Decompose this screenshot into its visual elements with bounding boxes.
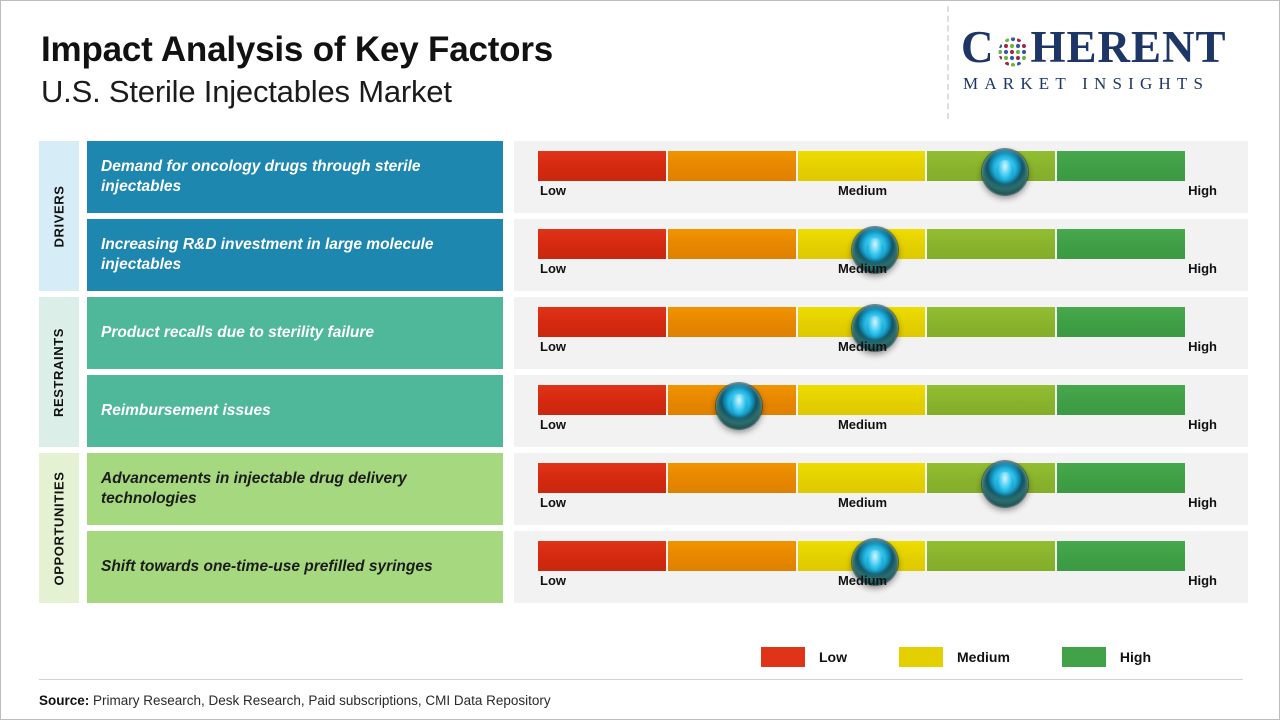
factor-rows: DRIVERS Demand for oncology drugs throug… bbox=[1, 141, 1280, 609]
gauge-segment-low bbox=[538, 463, 666, 493]
source-divider bbox=[39, 679, 1243, 680]
impact-gauge: Low Medium High bbox=[514, 375, 1248, 447]
table-row: Reimbursement issues Low Medium High bbox=[1, 375, 1280, 447]
factor-label: Shift towards one-time-use prefilled syr… bbox=[87, 531, 503, 603]
scale-label-high: High bbox=[1188, 339, 1217, 354]
scale-label-medium: Medium bbox=[838, 573, 887, 588]
source-text: Primary Research, Desk Research, Paid su… bbox=[89, 693, 550, 708]
legend-item-low: Low bbox=[761, 647, 847, 667]
company-logo: C bbox=[961, 21, 1261, 105]
gauge-segment-high bbox=[1057, 541, 1185, 571]
group-drivers: DRIVERS Demand for oncology drugs throug… bbox=[1, 141, 1280, 297]
scale-label-medium: Medium bbox=[838, 417, 887, 432]
impact-gauge: Low Medium High bbox=[514, 219, 1248, 291]
page-title: Impact Analysis of Key Factors bbox=[41, 31, 553, 69]
scale-label-low: Low bbox=[540, 573, 566, 588]
gauge-bar bbox=[538, 229, 1187, 259]
gauge-bar bbox=[538, 541, 1187, 571]
gauge-segment-high bbox=[1057, 151, 1185, 181]
table-row: Shift towards one-time-use prefilled syr… bbox=[1, 531, 1280, 603]
gauge-segment-medium-high bbox=[927, 541, 1055, 571]
gauge-segment-high bbox=[1057, 307, 1185, 337]
scale-label-high: High bbox=[1188, 495, 1217, 510]
source-line: Source: Primary Research, Desk Research,… bbox=[39, 693, 551, 708]
header-divider bbox=[947, 6, 949, 119]
gauge-scale-labels: Low Medium High bbox=[538, 573, 1187, 595]
scale-label-medium: Medium bbox=[838, 261, 887, 276]
gauge-segment-medium bbox=[798, 463, 926, 493]
gauge-segment-low-medium bbox=[668, 151, 796, 181]
legend: Low Medium High bbox=[761, 645, 1191, 669]
gauge-segment-low-medium bbox=[668, 229, 796, 259]
gauge-segment-medium-high bbox=[927, 385, 1055, 415]
scale-label-medium: Medium bbox=[838, 339, 887, 354]
table-row: Product recalls due to sterility failure… bbox=[1, 297, 1280, 369]
gauge-segment-high bbox=[1057, 229, 1185, 259]
impact-gauge: Low Medium High bbox=[514, 531, 1248, 603]
gauge-bar bbox=[538, 385, 1187, 415]
gauge-scale-labels: Low Medium High bbox=[538, 339, 1187, 361]
table-row: Advancements in injectable drug delivery… bbox=[1, 453, 1280, 525]
page-subtitle: U.S. Sterile Injectables Market bbox=[41, 75, 553, 110]
factor-label: Demand for oncology drugs through steril… bbox=[87, 141, 503, 213]
gauge-segment-high bbox=[1057, 463, 1185, 493]
gauge-segment-high bbox=[1057, 385, 1185, 415]
legend-swatch-low bbox=[761, 647, 805, 667]
gauge-segment-low bbox=[538, 541, 666, 571]
gauge-segment-low-medium bbox=[668, 541, 796, 571]
impact-gauge: Low Medium High bbox=[514, 141, 1248, 213]
gauge-scale-labels: Low Medium High bbox=[538, 495, 1187, 517]
legend-label-medium: Medium bbox=[957, 649, 1010, 665]
source-label: Source: bbox=[39, 693, 89, 708]
impact-gauge: Low Medium High bbox=[514, 297, 1248, 369]
title-block: Impact Analysis of Key Factors U.S. Ster… bbox=[41, 31, 553, 110]
logo-letters-herent: HERENT bbox=[1031, 25, 1227, 70]
globe-dots-icon bbox=[996, 32, 1030, 66]
gauge-segment-low-medium bbox=[668, 463, 796, 493]
factor-label: Increasing R&D investment in large molec… bbox=[87, 219, 503, 291]
gauge-segment-low bbox=[538, 307, 666, 337]
scale-label-medium: Medium bbox=[838, 183, 887, 198]
gauge-segment-low bbox=[538, 385, 666, 415]
factor-label: Reimbursement issues bbox=[87, 375, 503, 447]
gauge-scale-labels: Low Medium High bbox=[538, 183, 1187, 205]
logo-tagline: MARKET INSIGHTS bbox=[961, 74, 1261, 94]
legend-item-medium: Medium bbox=[899, 647, 1010, 667]
gauge-segment-medium-high bbox=[927, 229, 1055, 259]
scale-label-high: High bbox=[1188, 573, 1217, 588]
gauge-segment-medium-high bbox=[927, 307, 1055, 337]
gauge-segment-medium bbox=[798, 385, 926, 415]
scale-label-high: High bbox=[1188, 261, 1217, 276]
scale-label-low: Low bbox=[540, 261, 566, 276]
group-restraints: RESTRAINTS Product recalls due to steril… bbox=[1, 297, 1280, 453]
slide: Impact Analysis of Key Factors U.S. Ster… bbox=[0, 0, 1280, 720]
legend-label-low: Low bbox=[819, 649, 847, 665]
scale-label-low: Low bbox=[540, 495, 566, 510]
group-opportunities: OPPORTUNITIES Advancements in injectable… bbox=[1, 453, 1280, 609]
factor-label: Advancements in injectable drug delivery… bbox=[87, 453, 503, 525]
scale-label-low: Low bbox=[540, 339, 566, 354]
gauge-scale-labels: Low Medium High bbox=[538, 417, 1187, 439]
header: Impact Analysis of Key Factors U.S. Ster… bbox=[1, 1, 1280, 133]
gauge-segment-low bbox=[538, 151, 666, 181]
legend-swatch-high bbox=[1062, 647, 1106, 667]
table-row: Demand for oncology drugs through steril… bbox=[1, 141, 1280, 213]
legend-label-high: High bbox=[1120, 649, 1151, 665]
table-row: Increasing R&D investment in large molec… bbox=[1, 219, 1280, 291]
factor-label: Product recalls due to sterility failure bbox=[87, 297, 503, 369]
scale-label-medium: Medium bbox=[838, 495, 887, 510]
gauge-segment-medium bbox=[798, 151, 926, 181]
gauge-bar bbox=[538, 151, 1187, 181]
gauge-segment-low-medium bbox=[668, 307, 796, 337]
gauge-scale-labels: Low Medium High bbox=[538, 261, 1187, 283]
impact-gauge: Low Medium High bbox=[514, 453, 1248, 525]
scale-label-high: High bbox=[1188, 183, 1217, 198]
scale-label-high: High bbox=[1188, 417, 1217, 432]
gauge-bar bbox=[538, 307, 1187, 337]
legend-item-high: High bbox=[1062, 647, 1151, 667]
logo-letter-c: C bbox=[961, 25, 995, 70]
legend-swatch-medium bbox=[899, 647, 943, 667]
logo-wordmark: C bbox=[961, 21, 1261, 73]
scale-label-low: Low bbox=[540, 183, 566, 198]
scale-label-low: Low bbox=[540, 417, 566, 432]
gauge-bar bbox=[538, 463, 1187, 493]
gauge-segment-low bbox=[538, 229, 666, 259]
